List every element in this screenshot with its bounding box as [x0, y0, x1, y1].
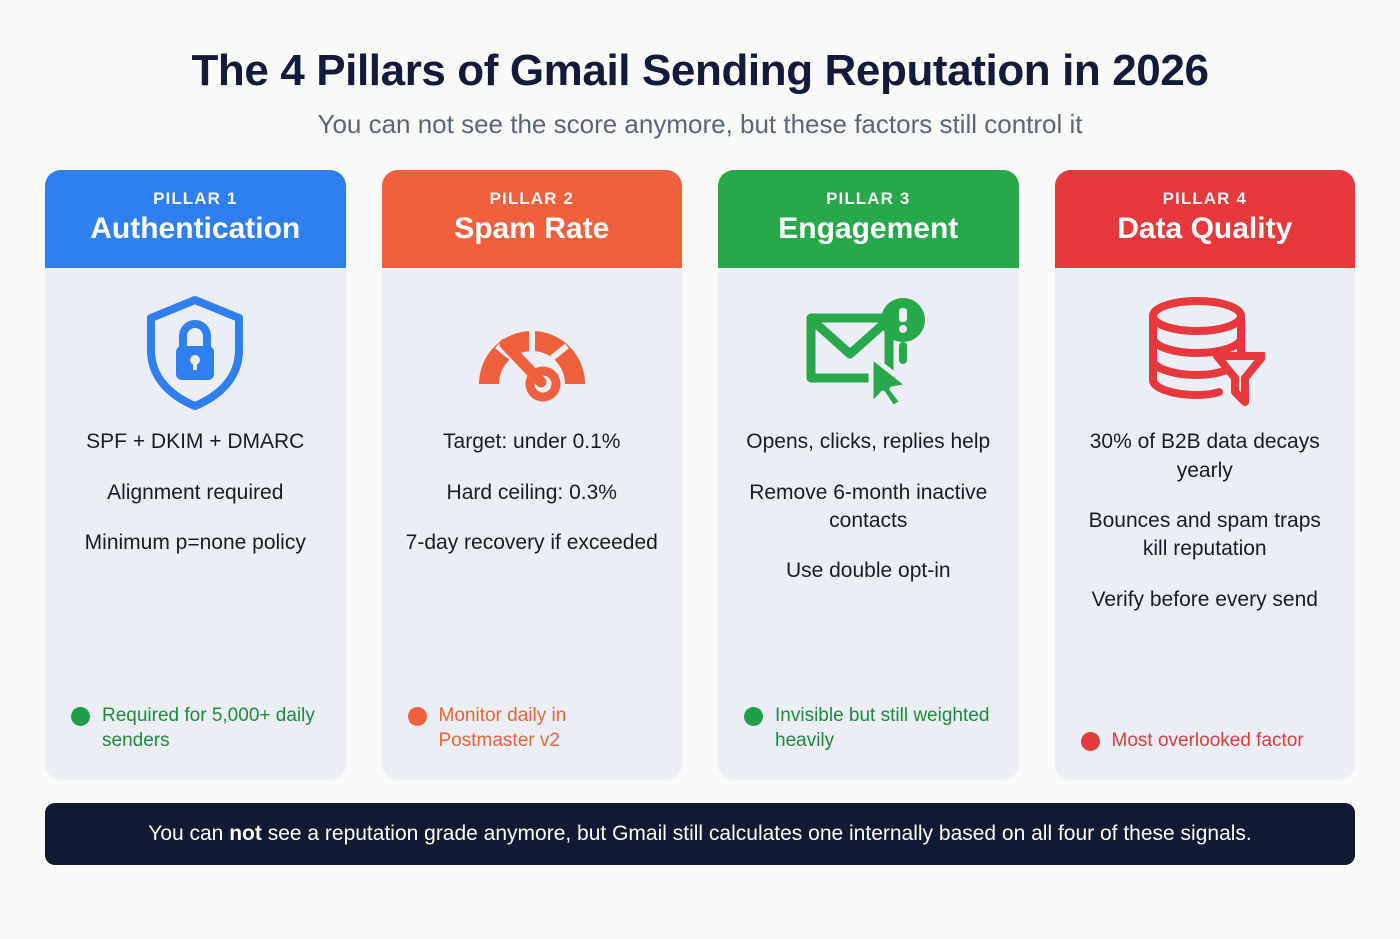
page-subtitle: You can not see the score anymore, but t…	[0, 109, 1400, 140]
card-body-4: 30% of B2B data decays yearly Bounces an…	[1055, 428, 1356, 728]
card-header-1: PILLAR 1 Authentication	[45, 170, 346, 268]
pillar-label-1: PILLAR 1	[153, 190, 237, 209]
card-header-2: PILLAR 2 Spam Rate	[382, 170, 683, 268]
gauge-icon	[382, 268, 683, 428]
body-line: Hard ceiling: 0.3%	[447, 479, 617, 507]
pillar-title-3: Engagement	[778, 211, 958, 248]
footer-note: Monitor daily in Postmaster v2	[439, 703, 657, 753]
banner-emphasis: not	[229, 822, 262, 845]
summary-banner: You can not see a reputation grade anymo…	[45, 803, 1355, 865]
page-header: The 4 Pillars of Gmail Sending Reputatio…	[0, 0, 1400, 140]
card-header-3: PILLAR 3 Engagement	[718, 170, 1019, 268]
body-line: SPF + DKIM + DMARC	[86, 428, 304, 456]
pillar-card-spam-rate: PILLAR 2 Spam Rate Target: under 0.1% Ha…	[382, 170, 683, 779]
body-line: Target: under 0.1%	[443, 428, 620, 456]
body-line: Remove 6-month inactive contacts	[741, 479, 996, 536]
card-footer-2: Monitor daily in Postmaster v2	[382, 703, 683, 779]
card-footer-3: Invisible but still weighted heavily	[718, 703, 1019, 779]
pillar-label-4: PILLAR 4	[1163, 190, 1247, 209]
infographic-page: The 4 Pillars of Gmail Sending Reputatio…	[0, 0, 1400, 939]
pillar-card-engagement: PILLAR 3 Engagement Opens, clicks, repli…	[718, 170, 1019, 779]
pillar-label-3: PILLAR 3	[826, 190, 910, 209]
status-dot-icon	[744, 707, 763, 726]
banner-suffix: see a reputation grade anymore, but Gmai…	[262, 822, 1252, 845]
body-line: 7-day recovery if exceeded	[406, 529, 658, 557]
pillar-title-1: Authentication	[90, 211, 300, 248]
pillar-title-4: Data Quality	[1117, 211, 1292, 248]
status-dot-icon	[71, 707, 90, 726]
card-header-4: PILLAR 4 Data Quality	[1055, 170, 1356, 268]
shield-lock-icon	[45, 268, 346, 428]
card-body-3: Opens, clicks, replies help Remove 6-mon…	[718, 428, 1019, 703]
body-line: Opens, clicks, replies help	[746, 428, 990, 456]
pillar-label-2: PILLAR 2	[490, 190, 574, 209]
body-line: 30% of B2B data decays yearly	[1077, 428, 1332, 485]
card-footer-1: Required for 5,000+ daily senders	[45, 703, 346, 779]
body-line: Bounces and spam traps kill reputation	[1077, 507, 1332, 564]
footer-note: Required for 5,000+ daily senders	[102, 703, 320, 753]
body-line: Minimum p=none policy	[85, 529, 306, 557]
card-body-1: SPF + DKIM + DMARC Alignment required Mi…	[45, 428, 346, 703]
body-line: Use double opt-in	[786, 557, 951, 585]
banner-prefix: You can	[148, 822, 229, 845]
status-dot-icon	[408, 707, 427, 726]
pillar-title-2: Spam Rate	[454, 211, 609, 248]
body-line: Verify before every send	[1092, 586, 1318, 614]
pillar-card-data-quality: PILLAR 4 Data Quality 30% of B2B data de…	[1055, 170, 1356, 779]
footer-note: Most overlooked factor	[1112, 728, 1304, 753]
card-footer-4: Most overlooked factor	[1055, 728, 1356, 779]
card-body-2: Target: under 0.1% Hard ceiling: 0.3% 7-…	[382, 428, 683, 703]
pillar-card-authentication: PILLAR 1 Authentication SPF + DKIM + DMA…	[45, 170, 346, 779]
banner-text: You can not see a reputation grade anymo…	[148, 822, 1252, 846]
page-title: The 4 Pillars of Gmail Sending Reputatio…	[0, 46, 1400, 95]
footer-note: Invisible but still weighted heavily	[775, 703, 993, 753]
body-line: Alignment required	[107, 479, 283, 507]
status-dot-icon	[1081, 732, 1100, 751]
pillar-card-grid: PILLAR 1 Authentication SPF + DKIM + DMA…	[0, 140, 1400, 779]
envelope-alert-cursor-icon	[718, 268, 1019, 428]
database-funnel-icon	[1055, 268, 1356, 428]
